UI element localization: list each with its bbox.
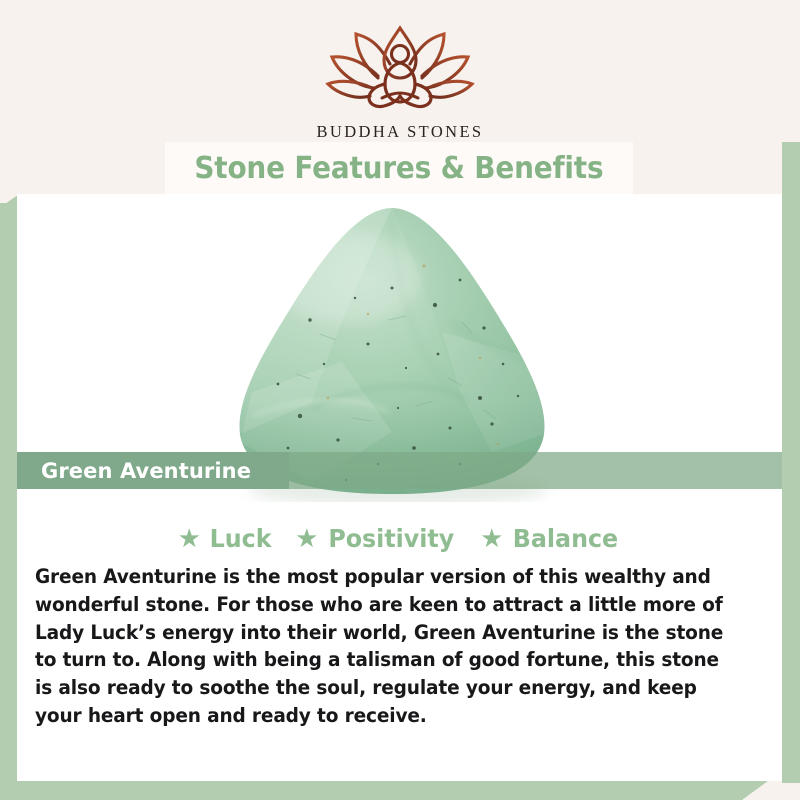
frame-accent-bottom <box>0 781 760 800</box>
lotus-meditation-figure-icon <box>285 22 515 118</box>
benefit-item-positivity: ★ Positivity <box>295 524 458 553</box>
frame-accent-bottom-notch <box>742 781 768 800</box>
page-header: BUDDHA STONES <box>0 0 800 142</box>
title-banner: Stone Features & Benefits <box>165 142 633 194</box>
stone-name-label: Green Aventurine <box>41 452 251 489</box>
brand-name: BUDDHA STONES <box>285 122 515 142</box>
stone-description: Green Aventurine is the most popular ver… <box>35 563 731 730</box>
content-panel: ★ Luck ★ Positivity ★ Balance Green Aven… <box>17 514 782 781</box>
star-icon: ★ <box>178 525 201 551</box>
benefit-label: Balance <box>513 524 618 553</box>
poster-root: BUDDHA STONES Stone Features & Benefits <box>0 0 800 800</box>
benefit-label: Positivity <box>329 524 455 553</box>
brand-logo: BUDDHA STONES <box>285 22 515 142</box>
stone-photo-panel: Green Aventurine <box>17 194 782 514</box>
benefit-label: Luck <box>210 524 272 553</box>
frame-accent-left <box>0 203 17 800</box>
benefits-list: ★ Luck ★ Positivity ★ Balance <box>17 514 782 553</box>
benefit-item-balance: ★ Balance <box>480 524 621 553</box>
star-icon: ★ <box>480 525 503 551</box>
page-title: Stone Features & Benefits <box>195 151 604 186</box>
green-aventurine-tumbled-stone-photo: Green Aventurine <box>17 194 782 514</box>
benefit-item-luck: ★ Luck <box>178 524 274 553</box>
star-icon: ★ <box>295 525 318 551</box>
